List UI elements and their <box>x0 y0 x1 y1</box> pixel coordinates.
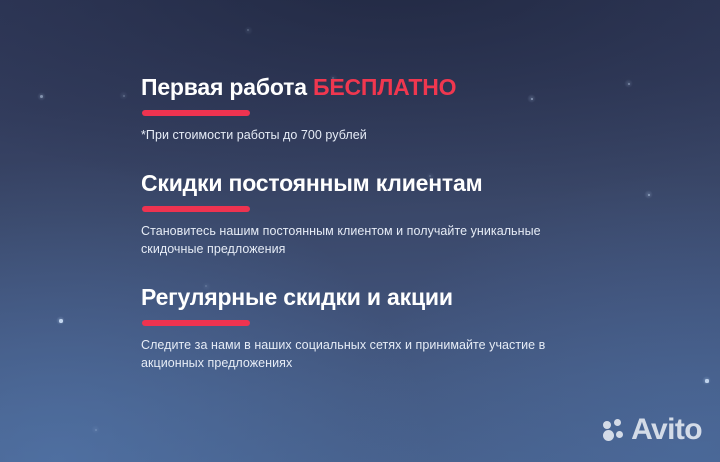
promo-banner: Первая работа БЕСПЛАТНО *При стоимости р… <box>0 0 720 462</box>
benefit-heading-accent: БЕСПЛАТНО <box>313 74 456 100</box>
benefit-block: Первая работа БЕСПЛАТНО *При стоимости р… <box>141 74 611 144</box>
benefit-body-text: *При стоимости работы до 700 рублей <box>141 126 601 144</box>
benefit-body-text: Следите за нами в наших социальных сетях… <box>141 336 601 372</box>
benefit-block: Скидки постоянным клиентам Становитесь н… <box>141 170 611 258</box>
benefit-heading-plain: Регулярные скидки и акции <box>141 284 453 310</box>
benefit-heading: Скидки постоянным клиентам <box>141 170 611 197</box>
benefit-block: Регулярные скидки и акции Следите за нам… <box>141 284 611 372</box>
heading-underline-rule <box>142 320 250 326</box>
benefit-heading: Первая работа БЕСПЛАТНО <box>141 74 611 101</box>
benefits-list: Первая работа БЕСПЛАТНО *При стоимости р… <box>141 74 611 372</box>
heading-underline-rule <box>142 110 250 116</box>
avito-dots-icon <box>603 419 626 442</box>
avito-watermark: Avito <box>603 415 702 445</box>
benefit-heading-plain: Скидки постоянным клиентам <box>141 170 482 196</box>
avito-wordmark: Avito <box>631 415 702 445</box>
benefit-heading-plain: Первая работа <box>141 74 307 100</box>
benefit-body-text: Становитесь нашим постоянным клиентом и … <box>141 222 601 258</box>
benefit-heading: Регулярные скидки и акции <box>141 284 611 311</box>
heading-underline-rule <box>142 206 250 212</box>
